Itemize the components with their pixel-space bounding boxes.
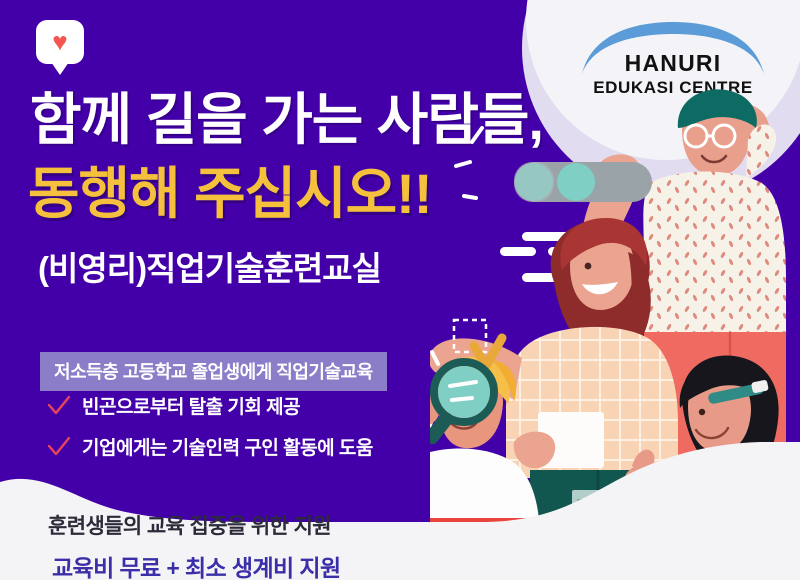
check-icon xyxy=(48,396,70,416)
heart-icon: ♥ xyxy=(52,28,67,54)
headline-subtitle: (비영리)직업기술훈련교실 xyxy=(38,252,381,285)
footer-line-1: 훈련생들의 교육 집중을 위한 지원 xyxy=(48,510,331,540)
program-banner: 저소득층 고등학교 졸업생에게 직업기술교육 xyxy=(40,352,387,391)
list-item-label: 빈곤으로부터 탈출 기회 제공 xyxy=(82,392,300,419)
poster-canvas: HANURI EDUKASI CENTRE ♥ 함께 길을 가는 사람들, 동행… xyxy=(0,0,800,580)
headline-line-2: 동행해 주십시오!! xyxy=(28,166,432,222)
footer-line-2: 교육비 무료 + 최소 생계비 지원 xyxy=(52,549,341,580)
heart-badge: ♥ xyxy=(36,20,84,64)
list-item: 빈곤으로부터 탈출 기회 제공 xyxy=(48,392,373,419)
